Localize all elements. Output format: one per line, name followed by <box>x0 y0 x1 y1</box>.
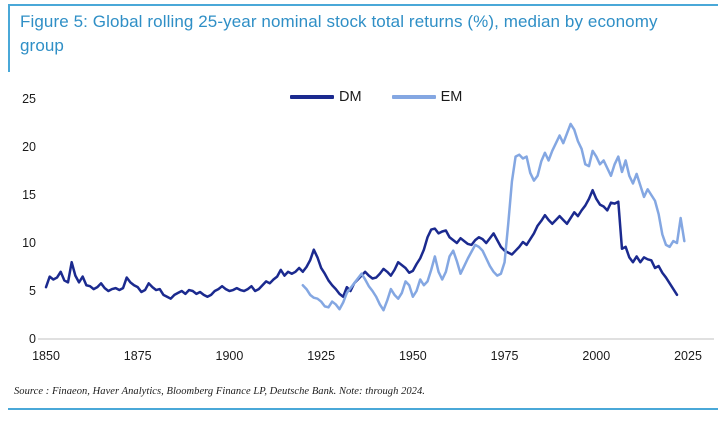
x-axis-tick-1925: 1925 <box>291 350 351 362</box>
y-axis-tick-5: 5 <box>2 285 36 297</box>
x-axis-tick-1850: 1850 <box>16 350 76 362</box>
line-chart-plot <box>0 0 726 426</box>
x-axis-tick-1875: 1875 <box>108 350 168 362</box>
x-axis-tick-2025: 2025 <box>658 350 718 362</box>
x-axis-tick-1900: 1900 <box>199 350 259 362</box>
series-line-em <box>303 124 685 310</box>
source-note: Source : Finaeon, Haver Analytics, Bloom… <box>14 386 714 397</box>
x-axis-tick-1950: 1950 <box>383 350 443 362</box>
series-line-dm <box>46 190 677 298</box>
y-axis-tick-15: 15 <box>2 189 36 201</box>
x-axis-tick-1975: 1975 <box>475 350 535 362</box>
y-axis-tick-20: 20 <box>2 141 36 153</box>
y-axis-tick-10: 10 <box>2 237 36 249</box>
y-axis-tick-0: 0 <box>2 333 36 345</box>
x-axis-tick-2000: 2000 <box>566 350 626 362</box>
figure-container: Figure 5: Global rolling 25-year nominal… <box>0 0 726 426</box>
y-axis-tick-25: 25 <box>2 93 36 105</box>
